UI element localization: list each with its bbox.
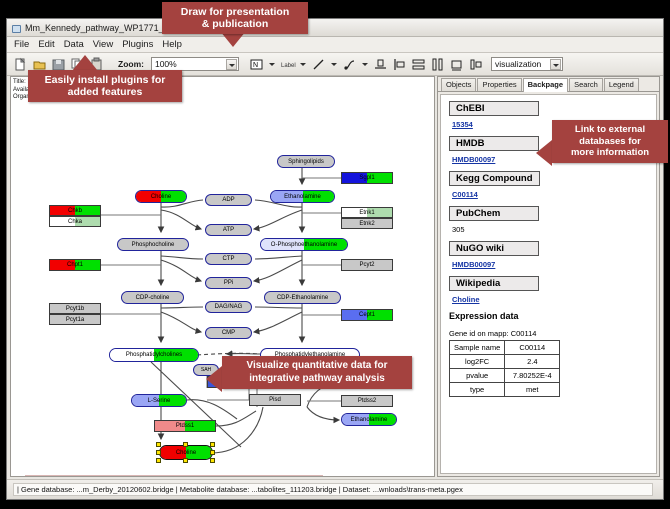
callout-line-1: Visualize quantitative data for	[224, 360, 410, 373]
gene-chkb[interactable]: Chkb	[49, 205, 101, 216]
db-link-wikipedia[interactable]: Choline	[452, 295, 648, 304]
callout-visualize-data: Visualize quantitative data for integrat…	[222, 356, 412, 389]
gene-id-line: Gene id on mapp: C00114	[449, 329, 648, 338]
table-row: type met	[450, 383, 560, 397]
gene-ptdss2[interactable]: Ptdss2	[341, 395, 393, 407]
node-label: Phosphatidylcholines	[126, 352, 182, 358]
status-bar: | Gene database: ...m_Derby_20120602.bri…	[7, 479, 663, 499]
stack-icon[interactable]	[468, 57, 483, 72]
gene-pcyt2[interactable]: Pcyt2	[341, 259, 393, 271]
pathway-canvas[interactable]: Title: Availa Organ	[10, 76, 435, 477]
node-sphingolipids[interactable]: Sphingolipids	[277, 155, 335, 168]
table-row: pvalue 7.80252E-4	[450, 369, 560, 383]
title-bar: Mm_Kennedy_pathway_WP1771_45176.gpml	[7, 19, 663, 37]
gene-chpt1[interactable]: Chpt1	[49, 259, 101, 271]
expression-table: Sample name C00114 log2FC 2.4 pvalue 7.8…	[449, 340, 560, 397]
menu-item-view[interactable]: View	[93, 39, 113, 50]
tab-search[interactable]: Search	[569, 78, 603, 91]
node-ppi[interactable]: PPi	[205, 277, 252, 289]
node-label: DAG/NAG	[215, 304, 243, 310]
gene-etnk1[interactable]: Etnk1	[341, 207, 393, 218]
node-label: Ptdss1	[176, 423, 194, 429]
visualization-value: visualization	[495, 59, 541, 69]
db-header-chebi: ChEBI	[449, 101, 539, 116]
node-label: CDP-Ethanolamine	[277, 295, 328, 301]
menu-item-data[interactable]: Data	[64, 39, 84, 50]
node-label: Chpt1	[67, 262, 83, 268]
callout-line-1: Easily install plugins for	[30, 74, 180, 86]
node-label: Sphingolipids	[288, 159, 324, 165]
node-label: Phosphocholine	[132, 242, 175, 248]
db-value-pubchem: 305	[452, 225, 648, 234]
line-dropdown-icon[interactable]	[330, 57, 338, 71]
db-link-nugowiki[interactable]: HMDB00097	[452, 260, 648, 269]
distribute-vertical-icon[interactable]	[411, 57, 426, 72]
selection-handle[interactable]	[210, 442, 215, 447]
db-header-pubchem: PubChem	[449, 206, 539, 221]
callout-line-3: more information	[554, 147, 666, 159]
interaction-dropdown-icon[interactable]	[361, 57, 369, 71]
gene-chka[interactable]: Chka	[49, 216, 101, 227]
expression-data-title: Expression data	[449, 311, 648, 321]
node-label: Cept1	[359, 312, 375, 318]
distribute-horizontal-icon[interactable]	[430, 57, 445, 72]
node-label: Sgpl1	[359, 175, 374, 181]
label-dropdown-icon[interactable]	[299, 57, 307, 71]
callout-arrow-left	[536, 140, 552, 166]
node-ctp[interactable]: CTP	[205, 253, 252, 265]
node-phosphocholine[interactable]: Phosphocholine	[117, 238, 189, 251]
gene-ptdss1[interactable]: Ptdss1	[154, 420, 216, 432]
node-label: Ethanolamine	[284, 194, 321, 200]
node-l-serine-left[interactable]: L-Serine	[131, 394, 187, 407]
node-cdp-ethanolamine[interactable]: CDP-Ethanolamine	[264, 291, 341, 304]
interaction-icon[interactable]	[342, 57, 357, 72]
db-header-kegg: Kegg Compound	[449, 171, 540, 186]
node-label: Ptdss2	[358, 398, 376, 404]
callout-line-2: & publication	[164, 18, 306, 30]
cell-label: log2FC	[450, 355, 505, 369]
label-icon[interactable]: Label	[280, 57, 295, 72]
db-header-hmdb: HMDB	[449, 136, 539, 151]
selection-handle[interactable]	[183, 442, 188, 447]
node-o-phosphoethanolamine[interactable]: O-Phosphoethanolamine	[260, 238, 348, 251]
size-common-icon[interactable]	[449, 57, 464, 72]
callout-line-1: Draw for presentation	[164, 6, 306, 18]
node-label: Pcyt1a	[66, 317, 84, 323]
tab-backpage[interactable]: Backpage	[523, 78, 568, 92]
gene-pisd[interactable]: Pisd	[249, 394, 301, 406]
db-header-wikipedia: Wikipedia	[449, 276, 539, 291]
status-text: | Gene database: ...m_Derby_20120602.bri…	[13, 483, 653, 496]
node-label: Ethanolamine	[351, 417, 388, 423]
menu-item-help[interactable]: Help	[162, 39, 182, 50]
cell-label: type	[450, 383, 505, 397]
node-label: Pisd	[269, 397, 281, 403]
node-choline-top[interactable]: Choline	[135, 190, 187, 203]
visualization-combo[interactable]: visualization	[491, 57, 563, 71]
align-top-icon[interactable]	[373, 57, 388, 72]
cell-value: met	[505, 383, 560, 397]
svg-text:N: N	[253, 62, 258, 69]
node-label: Etnk2	[359, 221, 374, 227]
node-label: CMP	[222, 330, 235, 336]
selection-handle[interactable]	[156, 450, 161, 455]
menu-bar: File Edit Data View Plugins Help	[7, 37, 663, 53]
gene-cept1[interactable]: Cept1	[341, 309, 393, 321]
zoom-value: 100%	[155, 59, 177, 69]
line-icon[interactable]	[311, 57, 326, 72]
node-label: L-Serine	[148, 398, 171, 404]
callout-line-2: databases for	[554, 136, 666, 148]
callout-line-2: added features	[30, 86, 180, 98]
node-label: O-Phosphoethanolamine	[271, 242, 337, 248]
menu-item-edit[interactable]: Edit	[38, 39, 54, 50]
menu-item-plugins[interactable]: Plugins	[122, 39, 153, 50]
node-label: Choline	[151, 194, 171, 200]
cell-label: Sample name	[450, 341, 505, 355]
node-label: CTP	[223, 256, 235, 262]
tab-legend[interactable]: Legend	[604, 78, 639, 91]
node-cmp[interactable]: CMP	[205, 327, 252, 339]
node-phosphatidylcholines[interactable]: Phosphatidylcholines	[109, 348, 199, 362]
chevron-down-icon[interactable]	[550, 59, 561, 70]
selection-handle[interactable]	[183, 458, 188, 463]
gene-etnk2[interactable]: Etnk2	[341, 218, 393, 229]
chevron-down-icon[interactable]	[226, 59, 237, 70]
node-label: ATP	[223, 227, 234, 233]
menu-item-file[interactable]: File	[14, 39, 29, 50]
align-left-icon[interactable]	[392, 57, 407, 72]
table-row: Sample name C00114	[450, 341, 560, 355]
node-cdp-choline[interactable]: CDP-choline	[121, 291, 184, 304]
callout-line-1: Link to external	[554, 124, 666, 136]
gene-pcyt1a[interactable]: Pcyt1a	[49, 314, 101, 325]
node-label: Choline	[176, 450, 196, 456]
cell-value: 2.4	[505, 355, 560, 369]
node-ethanolamine-bottom[interactable]: Ethanolamine	[341, 413, 397, 426]
zoom-label: Zoom:	[118, 59, 144, 69]
datanode-dropdown-icon[interactable]	[268, 57, 276, 71]
node-label: Pcyt1b	[66, 306, 84, 312]
table-row: log2FC 2.4	[450, 355, 560, 369]
cell-label: pvalue	[450, 369, 505, 383]
callout-install-plugins: Easily install plugins for added feature…	[28, 70, 182, 102]
selection-handle[interactable]	[156, 458, 161, 463]
node-label: PPi	[224, 280, 233, 286]
datanode-icon[interactable]: N	[249, 57, 264, 72]
node-label: Etnk1	[359, 210, 374, 216]
callout-arrow-left	[206, 366, 222, 392]
node-atp[interactable]: ATP	[205, 224, 252, 236]
db-header-nugowiki: NuGO wiki	[449, 241, 539, 256]
node-label: ADP	[222, 197, 234, 203]
node-adp[interactable]: ADP	[205, 194, 252, 206]
callout-draw-presentation: Draw for presentation & publication	[162, 2, 308, 34]
side-panel-tabs: Objects Properties Backpage Search Legen…	[438, 77, 659, 92]
app-icon	[11, 23, 21, 33]
gene-pcyt1b[interactable]: Pcyt1b	[49, 303, 101, 314]
svg-text:Label: Label	[281, 63, 296, 69]
tab-properties[interactable]: Properties	[477, 78, 521, 91]
node-label: Chka	[68, 219, 82, 225]
selection-handle[interactable]	[210, 458, 215, 463]
gene-sgpl1[interactable]: Sgpl1	[341, 172, 393, 184]
cell-value: 7.80252E-4	[505, 369, 560, 383]
node-dag-nag[interactable]: DAG/NAG	[205, 301, 252, 313]
selection-handle[interactable]	[156, 442, 161, 447]
cell-value: C00114	[505, 341, 560, 355]
node-label: Pcyt2	[359, 262, 374, 268]
share-callout: Share on Wikipathways.org	[25, 475, 323, 477]
callout-arrow-up	[72, 55, 98, 71]
callout-external-links: Link to external databases for more info…	[552, 120, 668, 163]
selection-handle[interactable]	[210, 450, 215, 455]
tab-objects[interactable]: Objects	[441, 78, 476, 91]
db-link-kegg[interactable]: C00114	[452, 190, 648, 199]
zoom-combo[interactable]: 100%	[151, 57, 239, 71]
node-ethanolamine-top[interactable]: Ethanolamine	[270, 190, 335, 203]
new-file-icon[interactable]	[13, 57, 28, 72]
node-label: CDP-choline	[136, 295, 170, 301]
node-label: Chkb	[68, 208, 82, 214]
callout-line-2: integrative pathway analysis	[224, 373, 410, 386]
